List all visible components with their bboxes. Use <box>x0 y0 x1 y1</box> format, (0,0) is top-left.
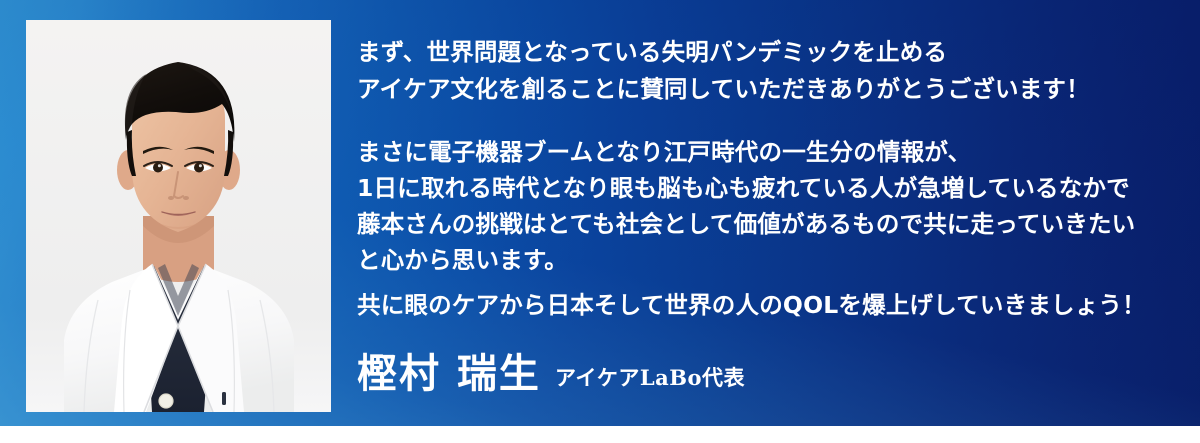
paragraph-2-line-3: 藤本さんの挑戦はとても社会として価値があるもので共に走っていきたい <box>357 206 1135 242</box>
paragraph-3: 共に眼のケアから日本そして世界の人のQOLを爆上げしていきましょう！ <box>357 287 1146 323</box>
paragraph-3-line-1: 共に眼のケアから日本そして世界の人のQOLを爆上げしていきましょう！ <box>357 287 1146 323</box>
paragraph-2-line-2: 1日に取れる時代となり眼も脳も心も疲れている人が急増しているなかで <box>357 170 1135 206</box>
testimonial-banner: まず、世界問題となっている失明パンデミックを止める アイケア文化を創ることに賛同… <box>0 0 1200 443</box>
paragraph-2-line-4: と心から思います。 <box>357 242 1135 278</box>
signature: 樫村 瑞生 アイケアLaBo代表 <box>357 354 745 394</box>
signature-title: アイケアLaBo代表 <box>555 367 745 388</box>
paragraph-1-line-1: まず、世界問題となっている失明パンデミックを止める <box>357 34 1090 71</box>
signature-name: 樫村 瑞生 <box>357 354 541 394</box>
paragraph-1-line-2: アイケア文化を創ることに賛同していただきありがとうございます！ <box>357 71 1090 108</box>
portrait-photo <box>26 20 331 412</box>
paragraph-2-line-1: まさに電子機器ブームとなり江戸時代の一生分の情報が、 <box>357 134 1135 170</box>
bottom-white-strip <box>0 426 1200 443</box>
paragraph-1: まず、世界問題となっている失明パンデミックを止める アイケア文化を創ることに賛同… <box>357 34 1090 108</box>
paragraph-2: まさに電子機器ブームとなり江戸時代の一生分の情報が、 1日に取れる時代となり眼も… <box>357 134 1135 278</box>
